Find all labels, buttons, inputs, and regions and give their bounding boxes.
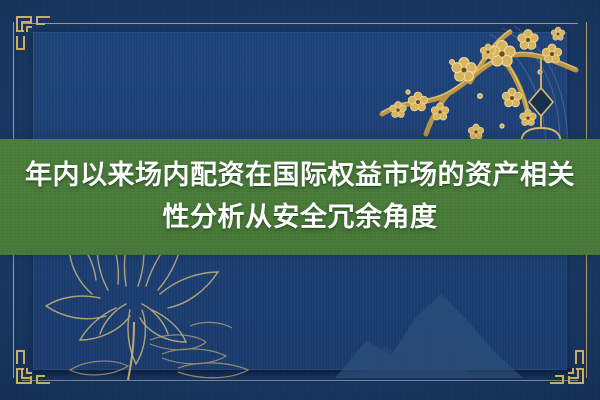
frame-line-top [22,23,578,24]
corner-fret-icon-top-left [14,14,60,60]
corner-fret-icon-bottom-right [540,340,586,386]
frame-line-bottom [22,380,578,381]
poster-canvas: 年内以来场内配资在国际权益市场的资产相关性分析从安全冗余角度 [0,0,600,400]
corner-fret-icon-bottom-left [14,340,60,386]
page-title: 年内以来场内配资在国际权益市场的资产相关性分析从安全冗余角度 [0,139,600,255]
